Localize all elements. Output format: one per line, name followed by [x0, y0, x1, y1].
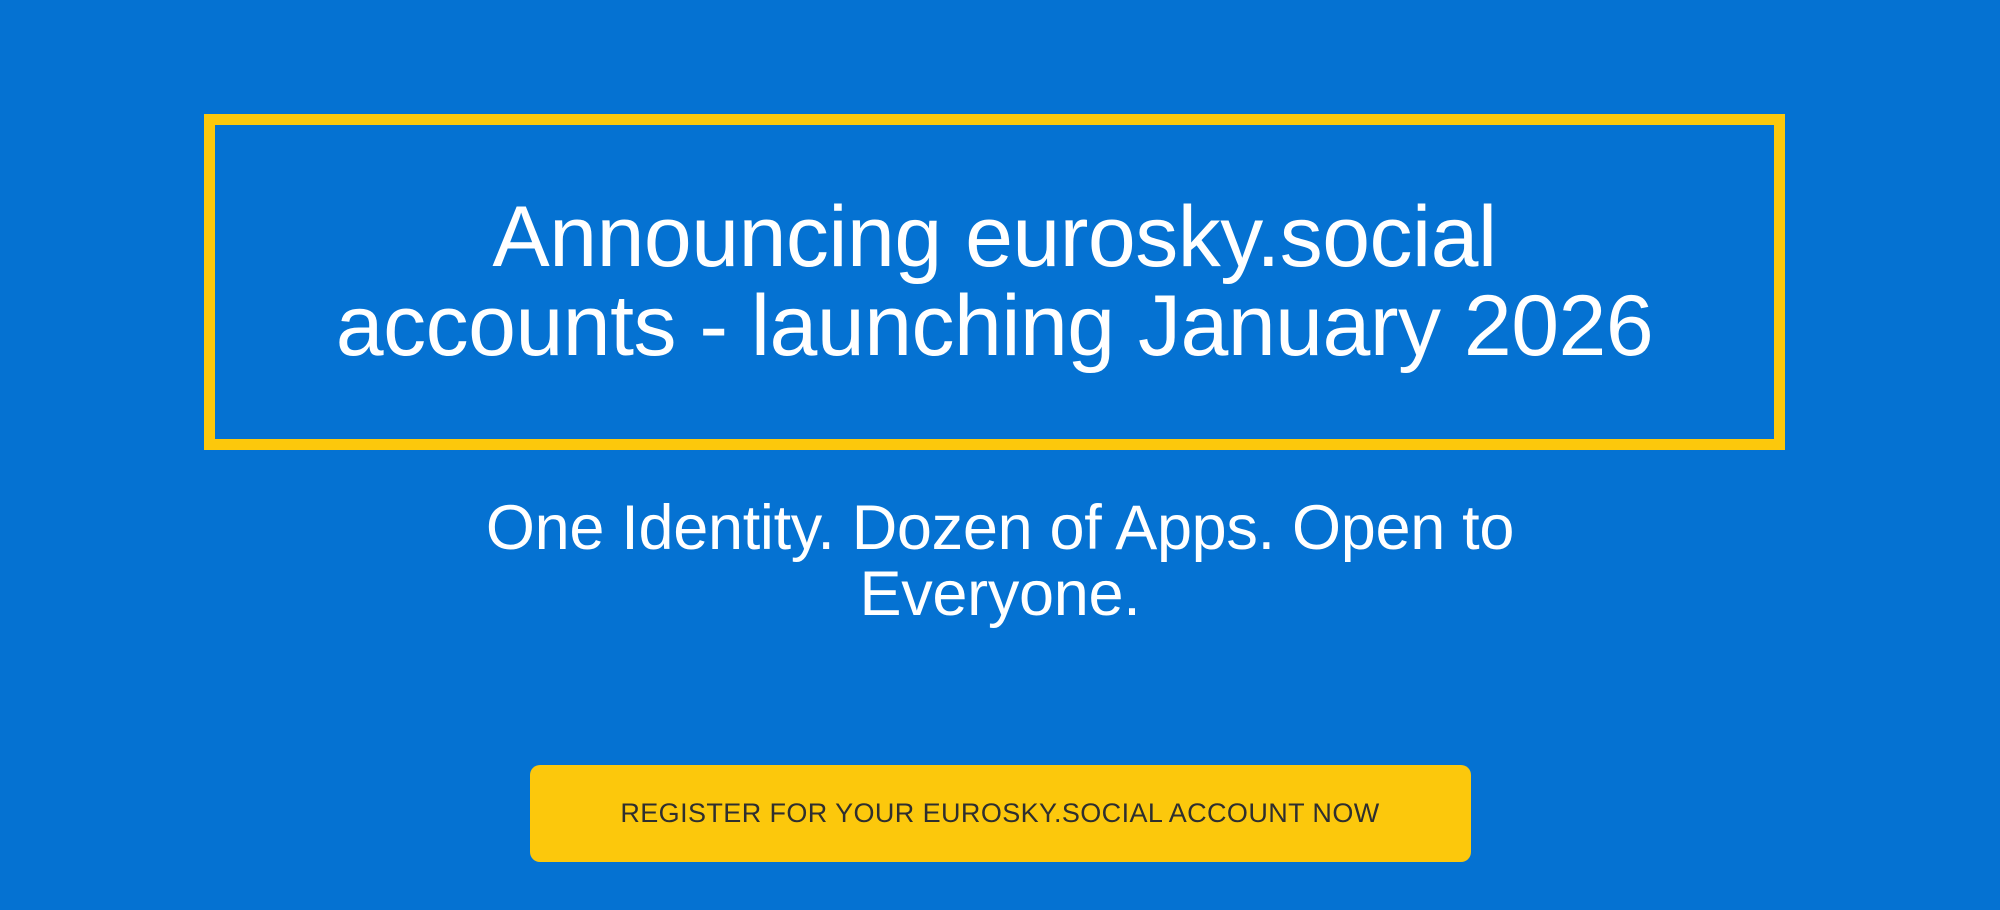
page-title-line-1: Announcing eurosky.social	[233, 193, 1756, 282]
page-title: Announcing eurosky.social accounts - lau…	[215, 193, 1774, 370]
register-account-button[interactable]: REGISTER FOR YOUR EUROSKY.SOCIAL ACCOUNT…	[530, 765, 1471, 862]
cta-container: REGISTER FOR YOUR EUROSKY.SOCIAL ACCOUNT…	[0, 765, 2000, 862]
headline-frame: Announcing eurosky.social accounts - lau…	[204, 114, 1785, 450]
subtitle-line-2: Everyone.	[0, 561, 2000, 627]
subtitle-line-1: One Identity. Dozen of Apps. Open to	[0, 495, 2000, 561]
promo-banner: Announcing eurosky.social accounts - lau…	[0, 0, 2000, 910]
page-title-line-2: accounts - launching January 2026	[233, 282, 1756, 371]
subtitle: One Identity. Dozen of Apps. Open to Eve…	[0, 495, 2000, 627]
